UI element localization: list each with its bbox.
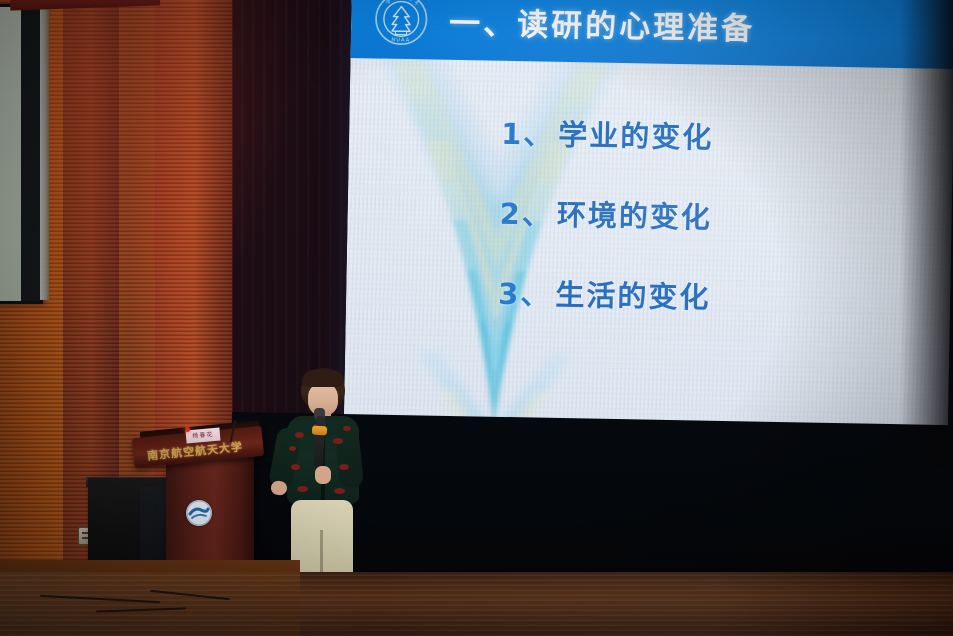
whiteboard-edge [40, 9, 49, 300]
svg-text:空: 空 [408, 0, 413, 2]
floor-reflection [0, 572, 953, 636]
presenter-right-arm [334, 425, 364, 489]
slide-title-banner: NUAA 南京航 空天 一、读研的心理准备 [351, 0, 953, 69]
cardigan-floral-dot [333, 438, 343, 444]
presenter-right-hand [315, 466, 331, 484]
list-item: 3、 生活的变化 [498, 271, 919, 321]
svg-text:南: 南 [386, 0, 391, 5]
wall-mounted-whiteboard [0, 4, 43, 304]
bullet-text: 环境的变化 [557, 192, 713, 237]
cardigan-floral-dot [339, 464, 349, 470]
list-item: 1、 学业的变化 [501, 111, 922, 161]
podium-emblem-icon [186, 500, 212, 526]
right-shadow [900, 0, 953, 470]
cardigan-floral-dot [334, 488, 345, 494]
list-item: 2、 环境的变化 [499, 191, 920, 241]
cardigan-floral-dot [297, 486, 308, 492]
svg-text:天: 天 [414, 1, 419, 7]
svg-text:京: 京 [393, 0, 398, 1]
bullet-number: 3、 [498, 271, 552, 314]
bullet-text: 生活的变化 [555, 272, 711, 317]
slide-bullet-list: 1、 学业的变化 2、 环境的变化 3、 生活的变化 [497, 111, 921, 359]
podium-indicator-light [185, 427, 190, 432]
cardigan-floral-dot [289, 446, 296, 451]
cardigan-floral-dot [343, 426, 351, 431]
podium-circular-emblem [186, 500, 212, 526]
presentation-slide: NUAA 南京航 空天 一、读研的心理准备 1、 学业的变化 2、 环境的变化 [343, 0, 953, 479]
cardigan-floral-dot [295, 432, 304, 438]
bullet-number: 1、 [501, 111, 555, 154]
whiteboard-face [0, 7, 21, 301]
presenter-fringe [302, 370, 344, 387]
slide-title: 一、读研的心理准备 [449, 0, 756, 48]
svg-text:NUAA: NUAA [391, 37, 410, 43]
nuaa-university-emblem-icon: NUAA 南京航 空天 [373, 0, 430, 47]
bullet-number: 2、 [499, 191, 553, 234]
projection-screen: NUAA 南京航 空天 一、读研的心理准备 1、 学业的变化 2、 环境的变化 [343, 0, 953, 479]
lecture-hall-photo: NUAA 南京航 空天 一、读研的心理准备 1、 学业的变化 2、 环境的变化 [0, 0, 953, 636]
microphone-band [312, 426, 327, 436]
bullet-text: 学业的变化 [558, 112, 714, 157]
cardigan-floral-dot [291, 464, 300, 470]
presenter-left-hand [270, 480, 288, 496]
